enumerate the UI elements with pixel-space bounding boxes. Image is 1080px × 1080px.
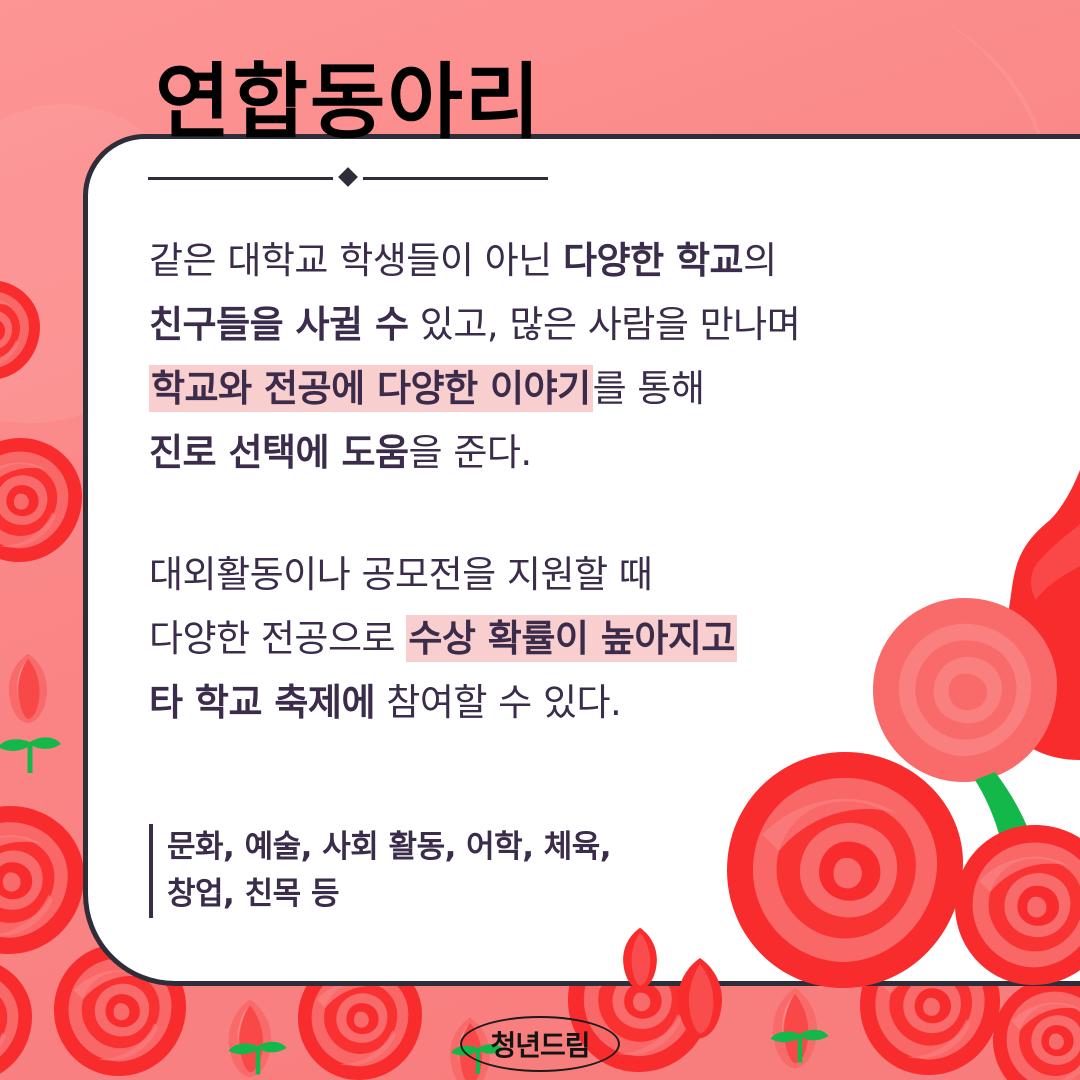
note-line-1: 문화, 예술, 사회 활동, 어학, 체육,: [167, 824, 867, 871]
paragraph-1: 같은 대학교 학생들이 아닌 다양한 학교의친구들을 사귈 수 있고, 많은 사…: [149, 229, 1029, 485]
text-run-bold: 친구들을 사귈 수: [149, 303, 409, 346]
diamond-divider: [148, 169, 548, 187]
body-copy: 같은 대학교 학생들이 아닌 다양한 학교의친구들을 사귈 수 있고, 많은 사…: [149, 229, 1029, 735]
text-run-normal: 같은 대학교 학생들이 아닌: [149, 239, 563, 282]
page-title: 연합동아리: [155, 62, 542, 144]
text-run-bold: 타 학교 축제에: [149, 681, 375, 724]
text-run-bold: 다양한 학교: [563, 239, 743, 282]
text-line: 타 학교 축제에 참여할 수 있다.: [149, 671, 1029, 735]
text-line: 진로 선택에 도움을 준다.: [149, 421, 1029, 485]
text-run-highlight: 수상 확률이 높아지고: [406, 615, 737, 662]
text-run-normal: 를 통해: [593, 367, 705, 410]
paragraph-2: 대외활동이나 공모전을 지원할 때다양한 전공으로 수상 확률이 높아지고타 학…: [149, 543, 1029, 735]
text-line: 학교와 전공에 다양한 이야기를 통해: [149, 357, 1029, 421]
text-run-normal: 의: [743, 239, 777, 282]
logo-label: 청년드림: [490, 1024, 589, 1064]
text-line: 같은 대학교 학생들이 아닌 다양한 학교의: [149, 229, 1029, 293]
category-note: 문화, 예술, 사회 활동, 어학, 체육, 창업, 친목 등: [149, 824, 867, 918]
text-line: 다양한 전공으로 수상 확률이 높아지고: [149, 607, 1029, 671]
text-line: 대외활동이나 공모전을 지원할 때: [149, 543, 1029, 607]
paragraph-spacer: [149, 485, 1029, 543]
diamond-icon: [338, 167, 358, 187]
text-run-normal: 참여할 수 있다.: [375, 681, 621, 724]
poster-canvas: 연합동아리 같은 대학교 학생들이 아닌 다양한 학교의친구들을 사귈 수 있고…: [0, 0, 1080, 1080]
text-run-normal: 을 준다.: [409, 431, 532, 474]
divider-line-right: [363, 177, 548, 180]
text-run-normal: 있고, 많은 사람을 만나며: [409, 303, 801, 346]
divider-line-left: [148, 177, 333, 180]
text-run-highlight: 학교와 전공에 다양한 이야기: [149, 365, 593, 412]
text-line: 친구들을 사귈 수 있고, 많은 사람을 만나며: [149, 293, 1029, 357]
card-content: 연합동아리 같은 대학교 학생들이 아닌 다양한 학교의친구들을 사귈 수 있고…: [83, 134, 1080, 986]
text-run-bold: 진로 선택에 도움: [149, 431, 409, 474]
text-run-normal: 다양한 전공으로: [149, 617, 406, 660]
text-run-normal: 대외활동이나 공모전을 지원할 때: [149, 553, 652, 596]
note-line-2: 창업, 친목 등: [167, 871, 867, 918]
brand-logo: 청년드림: [460, 1016, 620, 1072]
